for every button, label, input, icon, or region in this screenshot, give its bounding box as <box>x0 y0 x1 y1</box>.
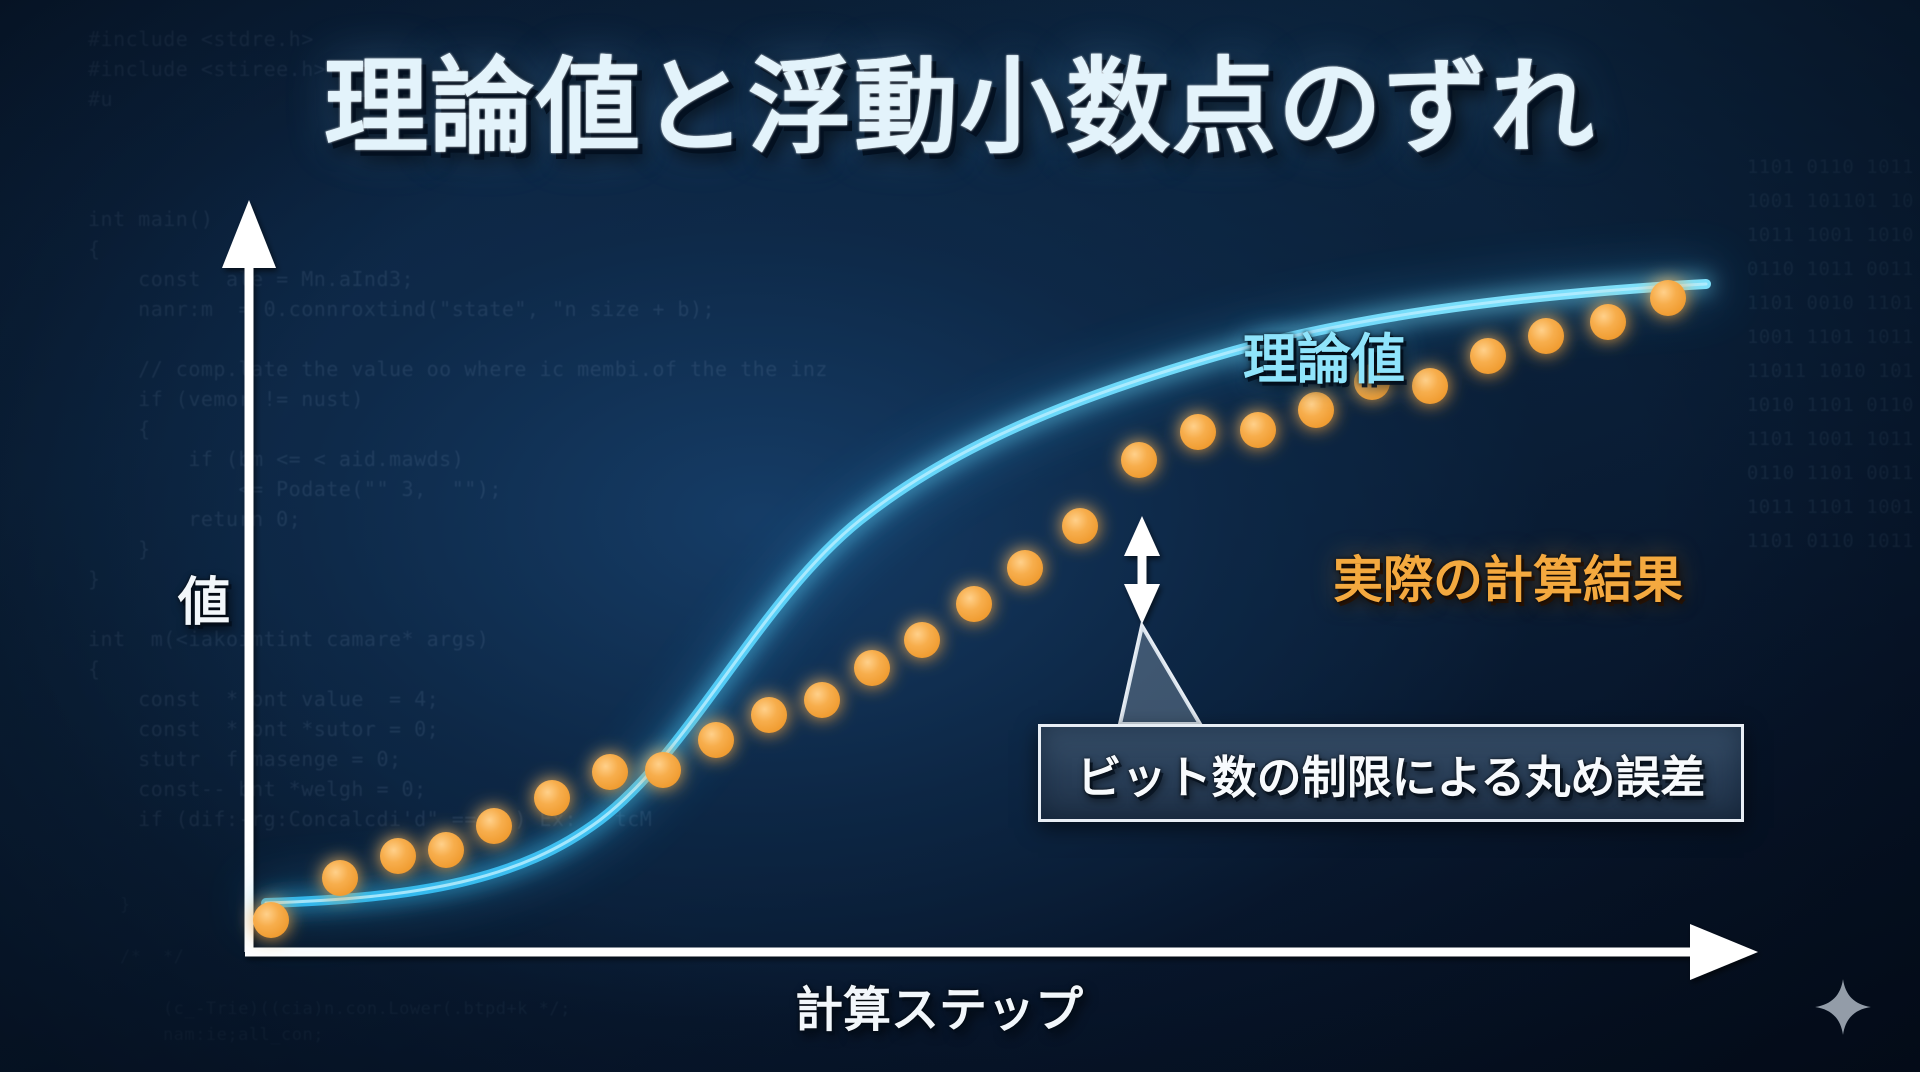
data-point <box>1007 550 1043 586</box>
data-point <box>1121 442 1157 478</box>
data-point <box>804 682 840 718</box>
sparkle-icon <box>1814 978 1872 1036</box>
data-point <box>1180 414 1216 450</box>
callout-text: ビット数の制限による丸め誤差 <box>1077 741 1706 806</box>
data-point <box>904 622 940 658</box>
callout-leader <box>1120 626 1200 724</box>
arrow-right-icon <box>1690 924 1758 980</box>
actual-result-label: 実際の計算結果 <box>1333 540 1683 612</box>
data-point <box>645 752 681 788</box>
data-point <box>322 860 358 896</box>
data-point <box>1590 304 1626 340</box>
slide-canvas: #include <stdre.h> #include <stiree.h> #… <box>0 0 1920 1072</box>
y-axis-label: 値 <box>178 560 230 635</box>
data-point <box>534 780 570 816</box>
theory-label: 理論値 <box>1243 315 1405 394</box>
data-point <box>854 650 890 686</box>
data-point <box>380 838 416 874</box>
data-point <box>253 902 289 938</box>
double-arrow-icon <box>1124 516 1160 624</box>
data-point <box>751 697 787 733</box>
data-point <box>956 586 992 622</box>
data-point <box>1470 338 1506 374</box>
data-point <box>1240 412 1276 448</box>
x-axis-label: 計算ステップ <box>795 970 1083 1040</box>
data-point <box>428 832 464 868</box>
data-point <box>1298 392 1334 428</box>
data-point <box>1650 280 1686 316</box>
data-point <box>476 808 512 844</box>
data-point <box>1412 368 1448 404</box>
chart-graphic <box>0 0 1920 1072</box>
data-point <box>592 754 628 790</box>
arrow-up-icon <box>222 200 276 268</box>
callout-box: ビット数の制限による丸め誤差 <box>1038 724 1744 822</box>
data-point <box>1528 318 1564 354</box>
data-point <box>1062 508 1098 544</box>
data-point <box>698 722 734 758</box>
